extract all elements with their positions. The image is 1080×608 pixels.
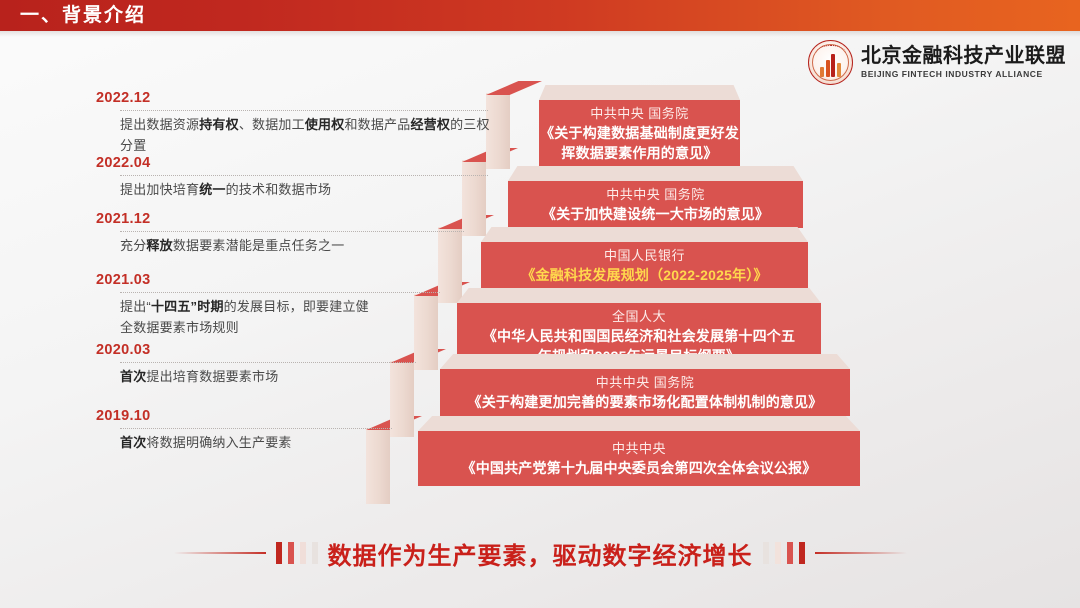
- tick-bar: [763, 542, 769, 564]
- step-doc-line: 《中国共产党第十九届中央委员会第四次全体会议公报》: [462, 458, 817, 478]
- banner-rule-right: [815, 552, 907, 554]
- step-body: 中共中央 国务院 《关于加快建设统一大市场的意见》: [508, 181, 803, 228]
- step-cap: [508, 166, 803, 181]
- policy-steps: 中共中央 国务院 《关于构建数据基础制度更好发 挥数据要素作用的意见》 中共中央…: [0, 0, 1080, 520]
- tick-bar: [312, 542, 318, 564]
- policy-step[interactable]: 中共中央 《中国共产党第十九届中央委员会第四次全体会议公报》: [418, 416, 860, 486]
- tick-bar: [288, 542, 294, 564]
- tick-bar: [276, 542, 282, 564]
- step-doc-line: 《关于构建数据基础制度更好发: [540, 123, 739, 143]
- tick-bar: [775, 542, 781, 564]
- bottom-banner: 数据作为生产要素，驱动数字经济增长: [0, 534, 1080, 572]
- step-body: 中共中央 国务院 《关于构建更加完善的要素市场化配置体制机制的意见》: [440, 369, 850, 416]
- step-doc-line: 《关于构建更加完善的要素市场化配置体制机制的意见》: [468, 392, 823, 412]
- policy-step[interactable]: 中共中央 国务院 《关于构建更加完善的要素市场化配置体制机制的意见》: [440, 354, 850, 416]
- step-doc-line: 《关于加快建设统一大市场的意见》: [542, 204, 769, 224]
- step-org: 中国人民银行: [604, 246, 685, 265]
- step-body: 中国人民银行 《金融科技发展规划（2022-2025年）》: [481, 242, 808, 289]
- step-org: 中共中央: [612, 439, 666, 458]
- step-cap: [481, 227, 808, 242]
- policy-step[interactable]: 中国人民银行 《金融科技发展规划（2022-2025年）》: [481, 227, 808, 289]
- step-cap: [457, 288, 821, 303]
- tick-bar: [787, 542, 793, 564]
- step-cap: [539, 85, 740, 100]
- slide-canvas: 一、背景介绍 北京金融科技产业联盟 BEIJING FINTECH INDUST…: [0, 0, 1080, 608]
- policy-step[interactable]: 中共中央 国务院 《关于加快建设统一大市场的意见》: [508, 166, 803, 228]
- step-doc-line: 《金融科技发展规划（2022-2025年）》: [521, 265, 767, 285]
- banner-rule-left: [174, 552, 266, 554]
- banner-headline: 数据作为生产要素，驱动数字经济增长: [328, 536, 753, 571]
- tick-bar: [799, 542, 805, 564]
- step-body: 中共中央 国务院 《关于构建数据基础制度更好发 挥数据要素作用的意见》: [539, 100, 740, 167]
- step-org: 全国人大: [612, 307, 666, 326]
- step-doc-line: 《中华人民共和国国民经济和社会发展第十四个五: [483, 326, 795, 346]
- step-doc-line: 挥数据要素作用的意见》: [561, 143, 717, 163]
- step-org: 中共中央 国务院: [596, 373, 695, 392]
- step-org: 中共中央 国务院: [590, 104, 689, 123]
- step-org: 中共中央 国务院: [606, 185, 705, 204]
- step-body: 中共中央 《中国共产党第十九届中央委员会第四次全体会议公报》: [418, 431, 860, 486]
- step-cap: [418, 416, 860, 431]
- banner-ticks-left: [276, 542, 318, 564]
- policy-step[interactable]: 中共中央 国务院 《关于构建数据基础制度更好发 挥数据要素作用的意见》: [539, 85, 740, 167]
- banner-ticks-right: [763, 542, 805, 564]
- tick-bar: [300, 542, 306, 564]
- step-cap: [440, 354, 850, 369]
